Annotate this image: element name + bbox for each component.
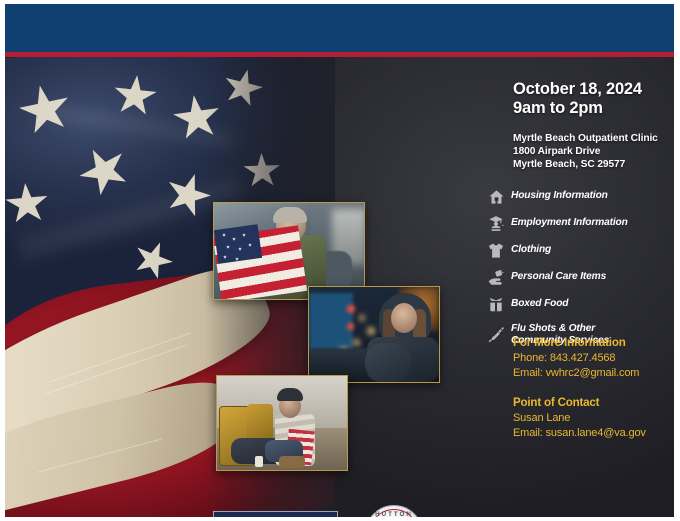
- service-item-personal-care: Personal Care Items: [481, 266, 674, 289]
- partner-logos: VWHRC Veterans Welcome Home Resource Cen…: [205, 505, 435, 517]
- point-of-contact-heading: Point of Contact: [513, 395, 646, 411]
- more-info-heading: For More Information: [513, 335, 646, 351]
- open-box-icon: [481, 296, 511, 313]
- service-item-employment: Employment Information: [481, 212, 674, 235]
- soap-hand-icon: [481, 269, 511, 286]
- tshirt-icon: [481, 242, 511, 259]
- venue-street: 1800 Airpark Drive: [513, 145, 658, 158]
- service-item-housing: Housing Information: [481, 185, 674, 208]
- event-datetime: October 18, 2024 9am to 2pm: [513, 80, 642, 118]
- event-time: 9am to 2pm: [513, 99, 642, 118]
- point-of-contact-email[interactable]: Email: susan.lane4@va.gov: [513, 426, 646, 441]
- venue-name: Myrtle Beach Outpatient Clinic: [513, 132, 658, 145]
- service-item-boxed-food: Boxed Food: [481, 293, 674, 316]
- event-location: Myrtle Beach Outpatient Clinic 1800 Airp…: [513, 132, 658, 171]
- vwhrc-logo-bar: VWHRC: [213, 511, 338, 517]
- service-label: Clothing: [511, 244, 551, 257]
- contact-phone[interactable]: Phone: 843.427.4568: [513, 351, 646, 366]
- vwhrc-mark: [214, 512, 242, 517]
- service-label-line1: Flu Shots & Other: [511, 323, 595, 334]
- poster-body: October 18, 2024 9am to 2pm Myrtle Beach…: [5, 57, 674, 517]
- syringe-icon: [481, 326, 511, 344]
- hutton-house-logo: HUTTON HOUSE HH: [365, 505, 423, 517]
- service-label: Personal Care Items: [511, 271, 606, 284]
- vwhrc-logo: VWHRC Veterans Welcome Home Resource Cen…: [213, 511, 338, 517]
- point-of-contact-name: Susan Lane: [513, 411, 646, 426]
- graduate-icon: [481, 215, 511, 232]
- service-label: Boxed Food: [511, 298, 568, 311]
- service-item-clothing: Clothing: [481, 239, 674, 262]
- hooded-woman-on-street-photo: [308, 286, 440, 383]
- hutton-top-text: HUTTON: [365, 511, 423, 517]
- header-red-rule: [5, 52, 674, 57]
- house-icon: [481, 189, 511, 205]
- venue-city-state-zip: Myrtle Beach, SC 29577: [513, 158, 658, 171]
- contact-email[interactable]: Email: vwhrc2@gmail.com: [513, 366, 646, 381]
- contact-block: For More Information Phone: 843.427.4568…: [513, 335, 646, 441]
- service-label: Housing Information: [511, 190, 608, 203]
- vwhrc-acronym: VWHRC: [249, 516, 330, 518]
- man-sitting-with-suitcase-photo: [216, 375, 348, 471]
- service-label: Employment Information: [511, 217, 628, 230]
- vwhrc-acronym-box: VWHRC: [242, 512, 337, 517]
- services-list: Housing Information: [481, 185, 674, 354]
- poster-inner: Stand Down for Homeless Veterans VA U.S.…: [5, 4, 674, 517]
- header-bar: [5, 4, 674, 52]
- poster: Stand Down for Homeless Veterans VA U.S.…: [0, 0, 680, 521]
- info-column: October 18, 2024 9am to 2pm Myrtle Beach…: [504, 57, 674, 517]
- event-date: October 18, 2024: [513, 80, 642, 99]
